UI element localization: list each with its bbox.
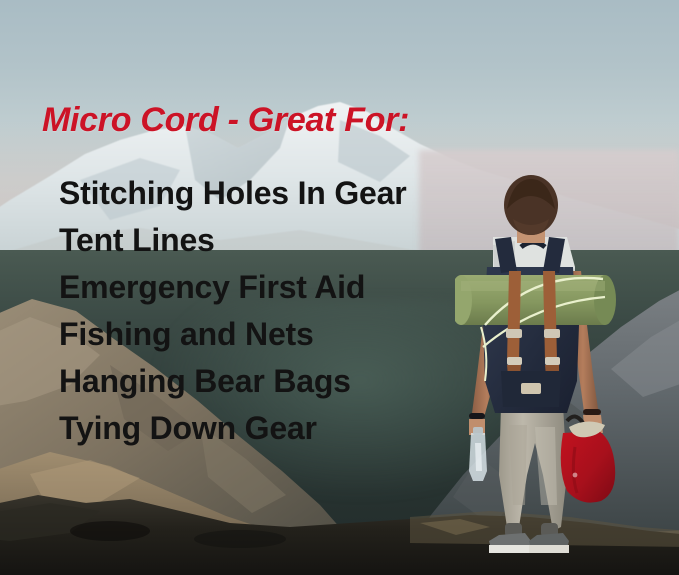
infographic-canvas: Micro Cord - Great For: Stitching Holes … [0, 0, 679, 575]
list-item: Hanging Bear Bags [59, 358, 489, 405]
list-item: Fishing and Nets [59, 311, 489, 358]
page-title: Micro Cord - Great For: [42, 101, 409, 140]
list-item: Stitching Holes In Gear [59, 170, 489, 217]
list-item: Tying Down Gear [59, 405, 489, 452]
use-case-list: Stitching Holes In Gear Tent Lines Emerg… [59, 170, 489, 452]
list-item: Tent Lines [59, 217, 489, 264]
list-item: Emergency First Aid [59, 264, 489, 311]
